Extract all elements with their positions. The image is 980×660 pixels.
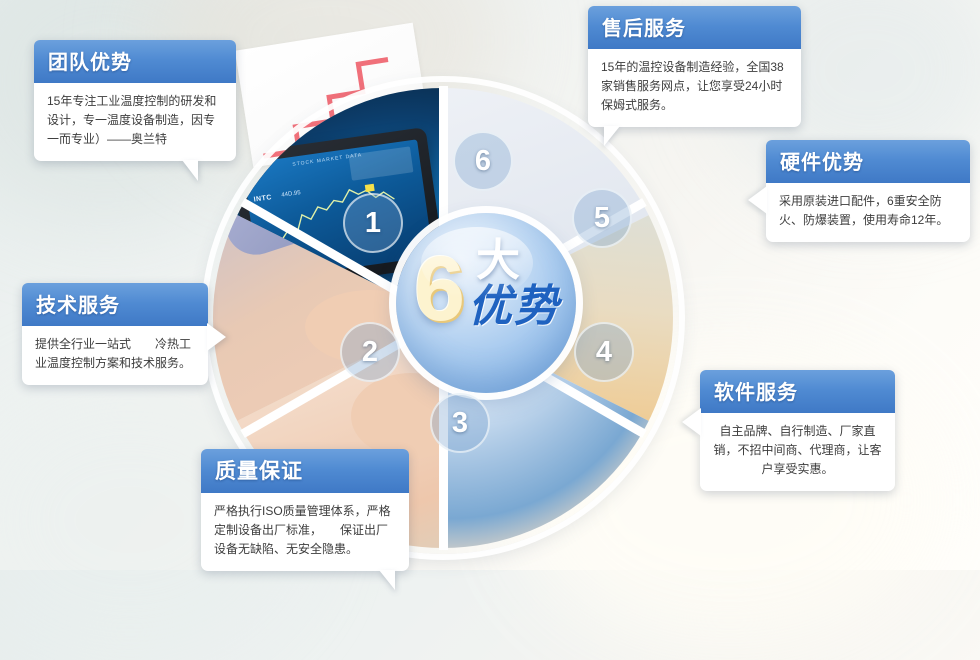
callout-pointer bbox=[207, 323, 226, 351]
callout-pointer bbox=[379, 570, 395, 590]
callout-title: 硬件优势 bbox=[766, 140, 970, 183]
callout-team-advantage[interactable]: 团队优势 15年专注工业温度控制的研发和设计，专一温度设备制造，因专一而专业）—… bbox=[34, 40, 236, 161]
callout-technical-service[interactable]: 技术服务 提供全行业一站式 冷热工业温度控制方案和技术服务。 bbox=[22, 283, 208, 385]
callout-title: 售后服务 bbox=[588, 6, 801, 49]
chart-marker bbox=[365, 184, 375, 192]
callout-quality-assurance[interactable]: 质量保证 严格执行ISO质量管理体系，严格定制设备出厂标准， 保证出厂设备无缺陷… bbox=[201, 449, 409, 571]
badge-script-word: 优势 bbox=[468, 285, 560, 329]
callout-body: 采用原装进口配件，6重安全防火、防爆装置，使用寿命12年。 bbox=[766, 183, 970, 242]
center-badge: 6 大 优势 bbox=[396, 213, 576, 393]
callout-body: 15年的温控设备制造经验，全国38家销售服务网点，让您享受24小时保姆式服务。 bbox=[588, 49, 801, 127]
callout-title: 质量保证 bbox=[201, 449, 409, 493]
callout-body: 15年专注工业温度控制的研发和设计，专一温度设备制造，因专一而专业）——奥兰特 bbox=[34, 83, 236, 161]
callout-pointer bbox=[748, 186, 767, 214]
wedge-number-6[interactable]: 6 bbox=[453, 131, 513, 191]
wedge-number-2[interactable]: 2 bbox=[340, 322, 400, 382]
callout-pointer bbox=[682, 408, 701, 436]
callout-software[interactable]: 软件服务 自主品牌、自行制造、厂家直销，不招中间商、代理商，让客户享受实惠。 bbox=[700, 370, 895, 491]
callout-body: 严格执行ISO质量管理体系，严格定制设备出厂标准， 保证出厂设备无缺陷、无安全隐… bbox=[201, 493, 409, 571]
callout-title: 技术服务 bbox=[22, 283, 208, 326]
wedge-number-3[interactable]: 3 bbox=[430, 393, 490, 453]
callout-title: 团队优势 bbox=[34, 40, 236, 83]
callout-body: 自主品牌、自行制造、厂家直销，不招中间商、代理商，让客户享受实惠。 bbox=[700, 413, 895, 491]
callout-title: 软件服务 bbox=[700, 370, 895, 413]
badge-big-word: 大 bbox=[476, 239, 520, 283]
callout-hardware[interactable]: 硬件优势 采用原装进口配件，6重安全防火、防爆装置，使用寿命12年。 bbox=[766, 140, 970, 242]
badge-number: 6 bbox=[414, 243, 465, 335]
wedge-number-4[interactable]: 4 bbox=[574, 322, 634, 382]
callout-body: 提供全行业一站式 冷热工业温度控制方案和技术服务。 bbox=[22, 326, 208, 385]
callout-pointer bbox=[182, 160, 198, 181]
callout-pointer bbox=[604, 126, 620, 146]
wedge-number-1[interactable]: 1 bbox=[343, 193, 403, 253]
wedge-number-5[interactable]: 5 bbox=[572, 188, 632, 248]
infographic-stage: STOCK MARKET DATA INTC 44D.95 bbox=[0, 0, 980, 570]
callout-after-sales[interactable]: 售后服务 15年的温控设备制造经验，全国38家销售服务网点，让您享受24小时保姆… bbox=[588, 6, 801, 127]
